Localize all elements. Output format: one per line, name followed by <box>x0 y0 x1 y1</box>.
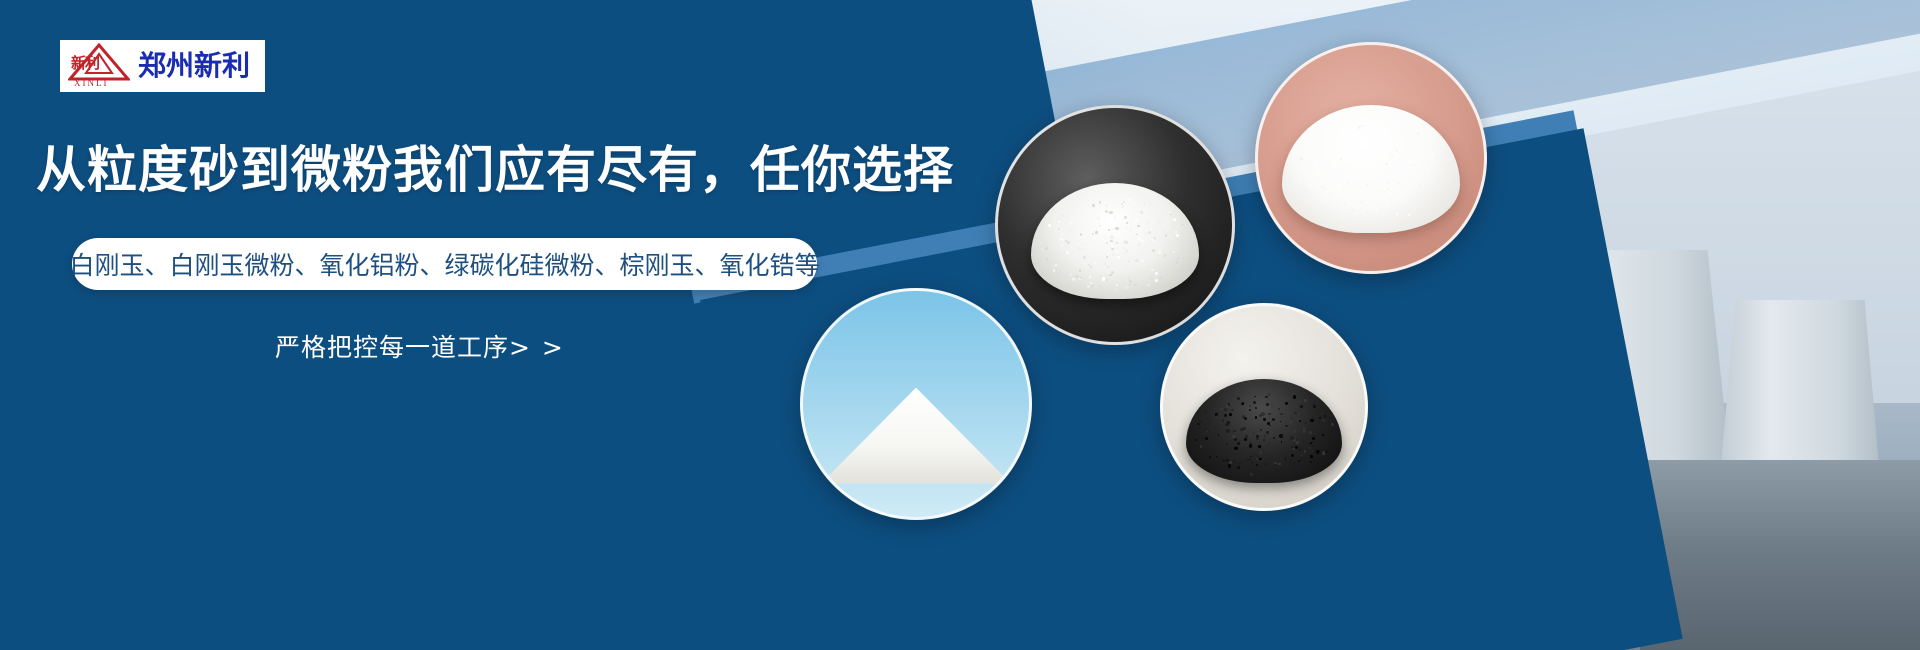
material-grain <box>1163 225 1165 227</box>
material-grain <box>1229 413 1232 416</box>
material-grain <box>1293 430 1296 433</box>
material-grain <box>1158 220 1161 223</box>
material-grain <box>1209 456 1211 458</box>
material-grain <box>1314 168 1315 169</box>
material-grain <box>1129 284 1131 286</box>
material-grain <box>1136 234 1138 236</box>
material-grain <box>1315 435 1316 436</box>
material-grain <box>1232 435 1234 437</box>
material-grain <box>1110 240 1112 242</box>
material-grain <box>1367 161 1369 163</box>
material-grain <box>1169 211 1171 213</box>
material-grain <box>1275 394 1278 397</box>
material-grain <box>1316 450 1319 453</box>
material-grain <box>1148 231 1151 234</box>
material-grain <box>1268 413 1271 416</box>
material-grain <box>1265 396 1268 399</box>
material-grain <box>1295 406 1298 409</box>
material-grain <box>1310 455 1312 457</box>
material-grain <box>1178 231 1181 234</box>
material-grain <box>1290 459 1293 462</box>
material-grain <box>1271 405 1274 408</box>
material-grain <box>1244 438 1247 441</box>
material-grain <box>1106 242 1108 244</box>
material-grain <box>1079 264 1082 267</box>
material-grain <box>1418 184 1420 186</box>
material-grain <box>1259 451 1262 454</box>
material-grain <box>1135 259 1138 262</box>
material-grain <box>1125 241 1128 244</box>
material-grain <box>1121 239 1123 241</box>
material-grain <box>1408 160 1410 162</box>
material-grain <box>1355 159 1356 160</box>
material-grain <box>1313 405 1316 408</box>
material-grain <box>1281 441 1283 443</box>
material-grain <box>1117 203 1119 205</box>
material-grain <box>1216 456 1219 459</box>
material-grain <box>1304 190 1306 192</box>
material-grain <box>1123 201 1125 203</box>
material-grain <box>1330 443 1332 445</box>
material-grain <box>1183 252 1184 253</box>
material-grain <box>1250 456 1251 457</box>
material-grain <box>1254 396 1256 398</box>
material-grain <box>1225 443 1228 446</box>
material-grain <box>1367 140 1368 141</box>
material-grain <box>1324 444 1326 446</box>
material-grain <box>1128 198 1130 200</box>
material-grain <box>1303 431 1305 433</box>
cta-text: 严格把控每一道工序 <box>275 333 509 362</box>
material-grain <box>1137 278 1139 280</box>
material-grain <box>1066 251 1069 254</box>
material-grain <box>1124 287 1126 289</box>
material-grain <box>1150 203 1151 204</box>
cta-link[interactable]: 严格把控每一道工序> > <box>275 328 565 364</box>
material-grain <box>1070 273 1073 276</box>
material-grain <box>1196 440 1199 443</box>
material-grain <box>1081 243 1084 246</box>
product-image-black-silicon-carbide-grit <box>1160 303 1368 511</box>
material-grain <box>1124 230 1127 233</box>
material-grain <box>1332 183 1334 185</box>
material-grain <box>1143 202 1146 205</box>
material-grain <box>1159 276 1162 279</box>
material-grain <box>1249 444 1251 446</box>
material-grain <box>1365 201 1366 202</box>
material-grain <box>1145 246 1147 248</box>
material-grain <box>1296 441 1299 444</box>
material-grain <box>1109 274 1112 277</box>
material-grain <box>1118 214 1121 217</box>
material-grain <box>1315 164 1318 167</box>
material-grain <box>1134 284 1136 286</box>
material-grain <box>1249 409 1251 411</box>
material-grain <box>1273 437 1274 438</box>
material-grain <box>1181 264 1183 266</box>
material-grain <box>1411 132 1412 133</box>
material-grain <box>1175 241 1177 243</box>
material-grain <box>1278 439 1280 441</box>
material-grain <box>1131 203 1133 205</box>
material-grain <box>1052 233 1055 236</box>
cta-arrows: > > <box>509 333 565 362</box>
material-grain <box>1108 229 1110 231</box>
material-grain <box>1404 148 1405 149</box>
material-grain <box>1173 251 1175 253</box>
material-grain <box>1322 453 1325 456</box>
material-grain <box>1180 228 1182 230</box>
material-grain <box>1114 216 1116 218</box>
material-grain <box>1069 221 1072 224</box>
material-grain <box>1229 461 1232 464</box>
material-grain <box>1291 446 1293 448</box>
material-grain <box>1177 257 1179 259</box>
material-grain <box>1413 197 1414 198</box>
material-grain <box>1061 233 1063 235</box>
material-grain <box>1234 432 1236 434</box>
material-grain <box>1235 411 1237 413</box>
grit-pile <box>1031 183 1199 299</box>
material-grain <box>1106 256 1108 258</box>
material-grain <box>1259 414 1262 417</box>
material-grain <box>1137 225 1140 228</box>
material-grain <box>1294 412 1297 415</box>
micropowder-pile <box>1282 105 1460 233</box>
material-grain <box>1233 405 1236 408</box>
material-grain <box>1364 162 1366 164</box>
material-grain <box>1072 278 1075 281</box>
material-grain <box>1397 206 1399 208</box>
material-grain <box>1312 445 1315 448</box>
material-grain <box>1280 413 1283 416</box>
material-grain <box>1097 217 1100 220</box>
material-grain <box>1319 417 1321 419</box>
material-grain <box>1040 242 1042 244</box>
material-grain <box>1175 231 1176 232</box>
material-grain <box>1304 450 1307 453</box>
material-grain <box>1237 397 1241 401</box>
material-grain <box>1398 209 1400 211</box>
material-grain <box>1088 245 1090 247</box>
material-grain <box>1129 280 1132 283</box>
triangle-logo-icon: 新利 XINLI <box>68 43 130 89</box>
promo-banner: 新利 XINLI 郑州新利 从粒度砂到微粉我们应有尽有，任你选择 白刚玉、白刚玉… <box>0 0 1920 650</box>
material-grain <box>1059 258 1061 260</box>
material-grain <box>1155 249 1156 250</box>
logo-mark-chinese: 新利 <box>71 56 99 71</box>
material-grain <box>1322 419 1325 422</box>
material-grain <box>1055 268 1057 270</box>
material-grain <box>1312 416 1314 418</box>
material-grain <box>1375 209 1377 211</box>
material-grain <box>1264 463 1266 465</box>
material-grain <box>1147 284 1150 287</box>
material-grain <box>1151 278 1153 280</box>
material-grain <box>1387 206 1389 208</box>
material-grain <box>1205 437 1209 441</box>
material-grain <box>1232 416 1234 418</box>
material-grain <box>1389 192 1391 194</box>
material-grain <box>1048 224 1051 227</box>
material-grain <box>1256 457 1258 459</box>
material-grain <box>1058 228 1060 230</box>
material-grain <box>1368 175 1369 176</box>
material-grain <box>1141 239 1143 241</box>
material-grain <box>1153 237 1156 240</box>
material-grain <box>1099 201 1101 203</box>
powder-cone <box>821 388 1011 484</box>
material-grain <box>1328 431 1330 433</box>
material-grain <box>1106 279 1108 281</box>
material-grain <box>1240 428 1243 431</box>
material-grain <box>1396 213 1397 214</box>
material-grain <box>1256 464 1258 466</box>
material-grain <box>1338 186 1340 188</box>
material-grain <box>1346 176 1348 178</box>
material-grain <box>1089 276 1091 278</box>
material-grain <box>1313 200 1315 202</box>
material-grain <box>1116 284 1118 286</box>
material-grain <box>1295 446 1298 449</box>
material-grain <box>1094 262 1096 264</box>
material-grain <box>1366 183 1368 185</box>
material-grain <box>1385 136 1387 138</box>
material-grain <box>1197 423 1200 426</box>
material-grain <box>1151 269 1153 271</box>
material-grain <box>1092 233 1094 235</box>
material-grain <box>1255 407 1257 409</box>
material-grain <box>1331 423 1334 426</box>
material-grain <box>1082 248 1084 250</box>
material-grain <box>1265 470 1267 472</box>
material-grain <box>1334 162 1336 164</box>
material-grain <box>1055 222 1057 224</box>
material-grain <box>1061 245 1064 248</box>
material-grain <box>1223 460 1225 462</box>
material-grain <box>1078 244 1080 246</box>
material-grain <box>1182 224 1184 226</box>
material-grain <box>1155 272 1157 274</box>
material-grain <box>1262 472 1264 474</box>
material-grain <box>1269 442 1271 444</box>
material-grain <box>1312 437 1315 440</box>
material-grain <box>1053 269 1055 271</box>
material-grain <box>1321 186 1323 188</box>
product-list-text: 白刚玉、白刚玉微粉、氧化铝粉、绿碳化硅微粉、棕刚玉、氧化锆等 <box>70 246 820 282</box>
material-grain <box>1109 211 1112 214</box>
material-grain <box>1285 425 1287 427</box>
material-grain <box>1440 171 1442 173</box>
material-grain <box>1091 285 1093 287</box>
material-grain <box>1201 436 1204 439</box>
material-grain <box>1304 161 1306 163</box>
material-grain <box>1052 248 1054 250</box>
material-grain <box>1385 163 1387 165</box>
material-grain <box>1061 214 1064 217</box>
material-grain <box>1342 189 1344 191</box>
material-grain <box>1078 247 1081 250</box>
material-grain <box>1322 434 1324 436</box>
material-grain <box>1108 252 1110 254</box>
material-grain <box>1226 429 1229 432</box>
material-grain <box>1380 183 1382 185</box>
material-grain <box>1329 194 1331 196</box>
material-grain <box>1087 210 1089 212</box>
headline: 从粒度砂到微粉我们应有尽有，任你选择 <box>36 143 954 198</box>
material-grain <box>1301 448 1304 451</box>
material-grain <box>1125 250 1128 253</box>
material-grain <box>1244 430 1246 432</box>
material-grain <box>1263 439 1265 441</box>
material-grain <box>1092 204 1095 207</box>
material-grain <box>1399 163 1401 165</box>
logo-mark-english: XINLI <box>74 79 109 88</box>
material-grain <box>1428 141 1430 143</box>
material-grain <box>1272 418 1275 421</box>
material-grain <box>1082 252 1084 254</box>
material-grain <box>1170 214 1172 216</box>
material-grain <box>1126 227 1128 229</box>
material-grain <box>1304 399 1306 401</box>
material-grain <box>1200 445 1203 448</box>
material-grain <box>1421 199 1422 200</box>
material-grain <box>1086 207 1088 209</box>
material-grain <box>1424 192 1425 193</box>
material-grain <box>1173 218 1176 221</box>
material-grain <box>1191 246 1193 248</box>
material-grain <box>1123 252 1125 254</box>
material-grain <box>1164 254 1167 257</box>
material-grain <box>1399 182 1401 184</box>
material-grain <box>1095 231 1098 234</box>
material-grain <box>1090 266 1092 268</box>
material-grain <box>1291 454 1294 457</box>
material-grain <box>1046 258 1049 261</box>
material-grain <box>1105 210 1108 213</box>
material-grain <box>1147 221 1149 223</box>
material-grain <box>1366 211 1368 213</box>
material-grain <box>1324 415 1326 417</box>
material-grain <box>1278 408 1280 410</box>
material-grain <box>1225 423 1228 426</box>
material-grain <box>1220 408 1222 410</box>
product-list-pill: 白刚玉、白刚玉微粉、氧化铝粉、绿碳化硅微粉、棕刚玉、氧化锆等 <box>72 238 817 290</box>
material-grain <box>1105 204 1108 207</box>
material-grain <box>1387 181 1389 183</box>
material-grain <box>1224 408 1228 412</box>
material-grain <box>1237 466 1241 470</box>
material-grain <box>1361 125 1363 127</box>
material-grain <box>1284 457 1287 460</box>
material-grain <box>1387 188 1389 190</box>
material-grain <box>1350 171 1352 173</box>
material-grain <box>1204 411 1206 413</box>
material-grain <box>1064 240 1066 242</box>
material-grain <box>1312 441 1316 445</box>
material-grain <box>1141 260 1143 262</box>
material-grain <box>1385 199 1387 201</box>
material-grain <box>1269 474 1271 476</box>
material-grain <box>1334 201 1336 203</box>
material-grain <box>1360 201 1362 203</box>
material-grain <box>1427 156 1429 158</box>
material-grain <box>1396 150 1398 152</box>
material-grain <box>1140 211 1143 214</box>
material-grain <box>1305 422 1307 424</box>
material-grain <box>1112 235 1114 237</box>
material-grain <box>1371 156 1373 158</box>
material-grain <box>1127 224 1130 227</box>
material-grain <box>1438 176 1440 178</box>
material-grain <box>1138 243 1141 246</box>
material-grain <box>1417 132 1419 134</box>
material-grain <box>1347 182 1348 183</box>
material-grain <box>1233 460 1235 462</box>
material-grain <box>1099 285 1101 287</box>
material-grain <box>1383 190 1385 192</box>
material-grain <box>1379 190 1381 192</box>
material-grain <box>1310 447 1312 449</box>
material-grain <box>1126 269 1128 271</box>
material-grain <box>1172 238 1174 240</box>
material-grain <box>1293 462 1296 465</box>
company-logo[interactable]: 新利 XINLI 郑州新利 <box>60 40 265 92</box>
logo-company-name: 郑州新利 <box>138 52 250 80</box>
material-grain <box>1415 140 1417 142</box>
material-grain <box>1155 279 1158 282</box>
material-grain <box>1228 464 1231 467</box>
material-grain <box>1116 251 1118 253</box>
material-grain <box>1231 420 1232 421</box>
material-grain <box>1311 451 1313 453</box>
material-grain <box>1112 254 1114 256</box>
material-grain <box>1362 139 1363 140</box>
material-grain <box>1241 421 1244 424</box>
material-grain <box>1300 190 1302 192</box>
material-grain <box>1175 225 1178 228</box>
material-grain <box>1259 458 1261 460</box>
material-grain <box>1352 209 1354 211</box>
material-grain <box>1079 269 1082 272</box>
material-grain <box>1161 218 1163 220</box>
material-grain <box>1287 412 1289 414</box>
material-grain <box>1283 418 1285 420</box>
material-grain <box>1255 416 1258 419</box>
material-grain <box>1263 418 1266 421</box>
material-grain <box>1126 286 1129 289</box>
material-grain <box>1269 425 1270 426</box>
material-grain <box>1373 194 1374 195</box>
material-grain <box>1135 218 1138 221</box>
material-grain <box>1299 420 1301 422</box>
material-grain <box>1432 154 1434 156</box>
material-grain <box>1134 221 1136 223</box>
material-grain <box>1069 229 1071 231</box>
material-grain <box>1289 420 1293 424</box>
grit-pile <box>1186 379 1342 483</box>
material-grain <box>1392 155 1394 157</box>
material-grain <box>1226 405 1229 408</box>
material-grain <box>1218 434 1220 436</box>
material-grain <box>1414 164 1416 166</box>
material-grain <box>1402 145 1405 148</box>
material-grain <box>1285 396 1288 399</box>
material-grain <box>1158 250 1161 253</box>
material-grain <box>1102 277 1105 280</box>
material-grain <box>1041 248 1043 250</box>
material-grain <box>1175 247 1178 250</box>
